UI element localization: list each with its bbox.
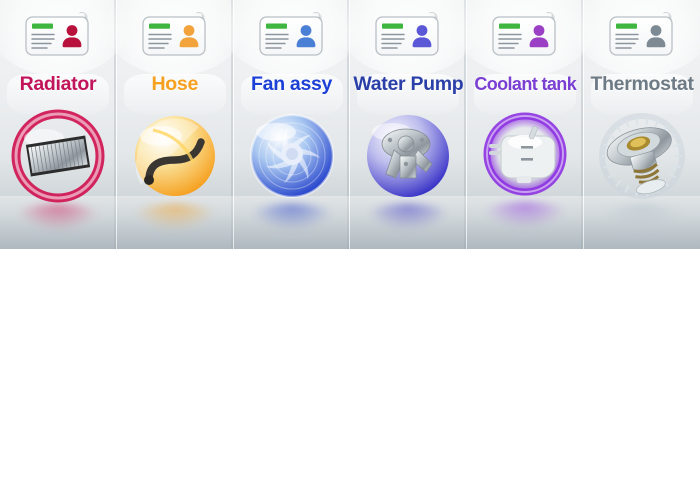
product-panel-water-pump[interactable]: Water Pump bbox=[350, 0, 467, 249]
product-label-radiator: Radiator bbox=[20, 75, 97, 95]
water-pump-image bbox=[356, 104, 460, 208]
product-panel-hose[interactable]: Hose bbox=[117, 0, 234, 249]
id-badge-icon-wrapper bbox=[253, 9, 331, 61]
product-panel-coolant-tank[interactable]: Coolant tank bbox=[467, 0, 584, 249]
product-panel-fan-assy[interactable]: Fan assy bbox=[234, 0, 351, 249]
product-label-thermostat: Thermostat bbox=[590, 75, 693, 95]
id-badge-icon-wrapper bbox=[136, 9, 214, 61]
product-panel-thermostat[interactable]: Thermostat bbox=[584, 0, 700, 249]
coolant-tank-image-wrapper[interactable] bbox=[473, 102, 577, 206]
id-badge-icon-wrapper bbox=[369, 9, 447, 61]
id-badge-icon-wrapper bbox=[603, 9, 681, 61]
id-badge-icon bbox=[136, 9, 214, 61]
id-badge-icon-wrapper bbox=[19, 9, 97, 61]
id-badge-icon bbox=[253, 9, 331, 61]
product-banner: Radiator bbox=[0, 0, 700, 249]
product-label-coolant-tank: Coolant tank bbox=[474, 75, 576, 93]
product-label-hose: Hose bbox=[152, 75, 198, 95]
fan-assembly-image bbox=[240, 104, 344, 208]
product-panel-radiator[interactable]: Radiator bbox=[0, 0, 117, 249]
hose-image-wrapper[interactable] bbox=[123, 104, 227, 208]
id-badge-icon-wrapper bbox=[486, 9, 564, 61]
id-badge-icon bbox=[369, 9, 447, 61]
radiator-image-wrapper[interactable] bbox=[6, 104, 110, 208]
id-badge-icon bbox=[603, 9, 681, 61]
water-pump-image-wrapper[interactable] bbox=[356, 104, 460, 208]
product-label-fan-assy: Fan assy bbox=[251, 75, 332, 95]
fan-assembly-image-wrapper[interactable] bbox=[240, 104, 344, 208]
thermostat-image-wrapper[interactable] bbox=[590, 104, 694, 208]
id-badge-icon bbox=[19, 9, 97, 61]
hose-image bbox=[123, 104, 227, 208]
why-section: Why KVR? Higher standard quality. Better… bbox=[0, 249, 700, 500]
product-overview-page: Radiator bbox=[0, 0, 700, 500]
coolant-tank-image bbox=[473, 102, 577, 206]
radiator-image bbox=[6, 104, 110, 208]
product-label-water-pump: Water Pump bbox=[353, 75, 463, 95]
thermostat-image bbox=[590, 104, 694, 208]
id-badge-icon bbox=[486, 9, 564, 61]
